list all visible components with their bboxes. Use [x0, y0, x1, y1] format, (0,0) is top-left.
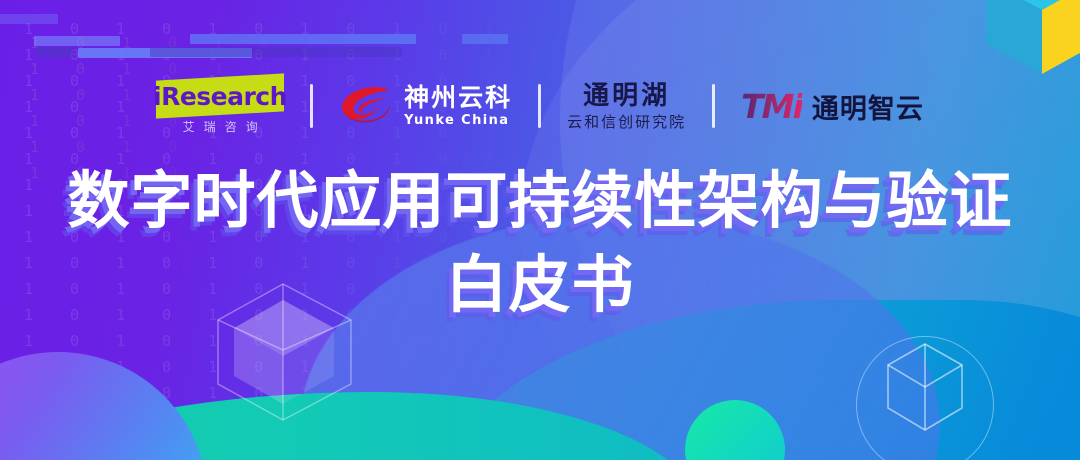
decor-bar-5	[190, 34, 416, 44]
title-line-1: 数字时代应用可持续性架构与验证	[0, 160, 1080, 242]
logo-iresearch[interactable]: iResearch 艾瑞咨询	[156, 77, 284, 135]
decor-bar-4	[0, 14, 58, 24]
wireframe-cube-icon	[884, 342, 966, 436]
logo-divider-3	[712, 84, 715, 128]
yunke-swirl-icon	[339, 85, 395, 127]
decor-bar-6	[150, 47, 402, 57]
title-line-2: 白皮书	[0, 244, 1080, 326]
logo-tongminghu[interactable]: 通明湖 云和信创研究院	[567, 83, 686, 130]
logo-yunke-china[interactable]: 神州云科 Yunke China	[339, 85, 512, 127]
logo-tmi-tongming-zhiyun[interactable]: TMi 通明智云	[741, 87, 924, 126]
decor-bar-1	[34, 36, 120, 46]
tongminghu-name-cn: 通明湖	[583, 83, 670, 109]
tmi-mark-text: TMi	[741, 87, 802, 126]
isometric-yellow-cube-icon	[986, 0, 1080, 74]
decor-bar-3	[36, 47, 74, 57]
tongminghu-sub-text: 云和信创研究院	[567, 115, 686, 130]
whitepaper-cover-banner: 1 0 1 0 1 0 1 0 1 0 1 0 1 0 1 0 1 0 1 0 …	[0, 0, 1080, 460]
decor-bar-7	[462, 34, 508, 44]
logo-divider-1	[310, 84, 313, 128]
iresearch-mark-text: iResearch	[153, 82, 287, 111]
iresearch-mark: iResearch	[156, 73, 284, 118]
banner-title: 数字时代应用可持续性架构与验证 白皮书	[0, 160, 1080, 326]
logo-divider-2	[538, 84, 541, 128]
iresearch-sub-text: 艾瑞咨询	[174, 118, 267, 135]
yunke-name-en: Yunke China	[404, 114, 512, 127]
yunke-name-cn: 神州云科	[404, 85, 512, 110]
partner-logo-row: iResearch 艾瑞咨询 神州云科 Yunke China	[0, 74, 1080, 138]
tmi-name-cn: 通明智云	[812, 87, 924, 126]
